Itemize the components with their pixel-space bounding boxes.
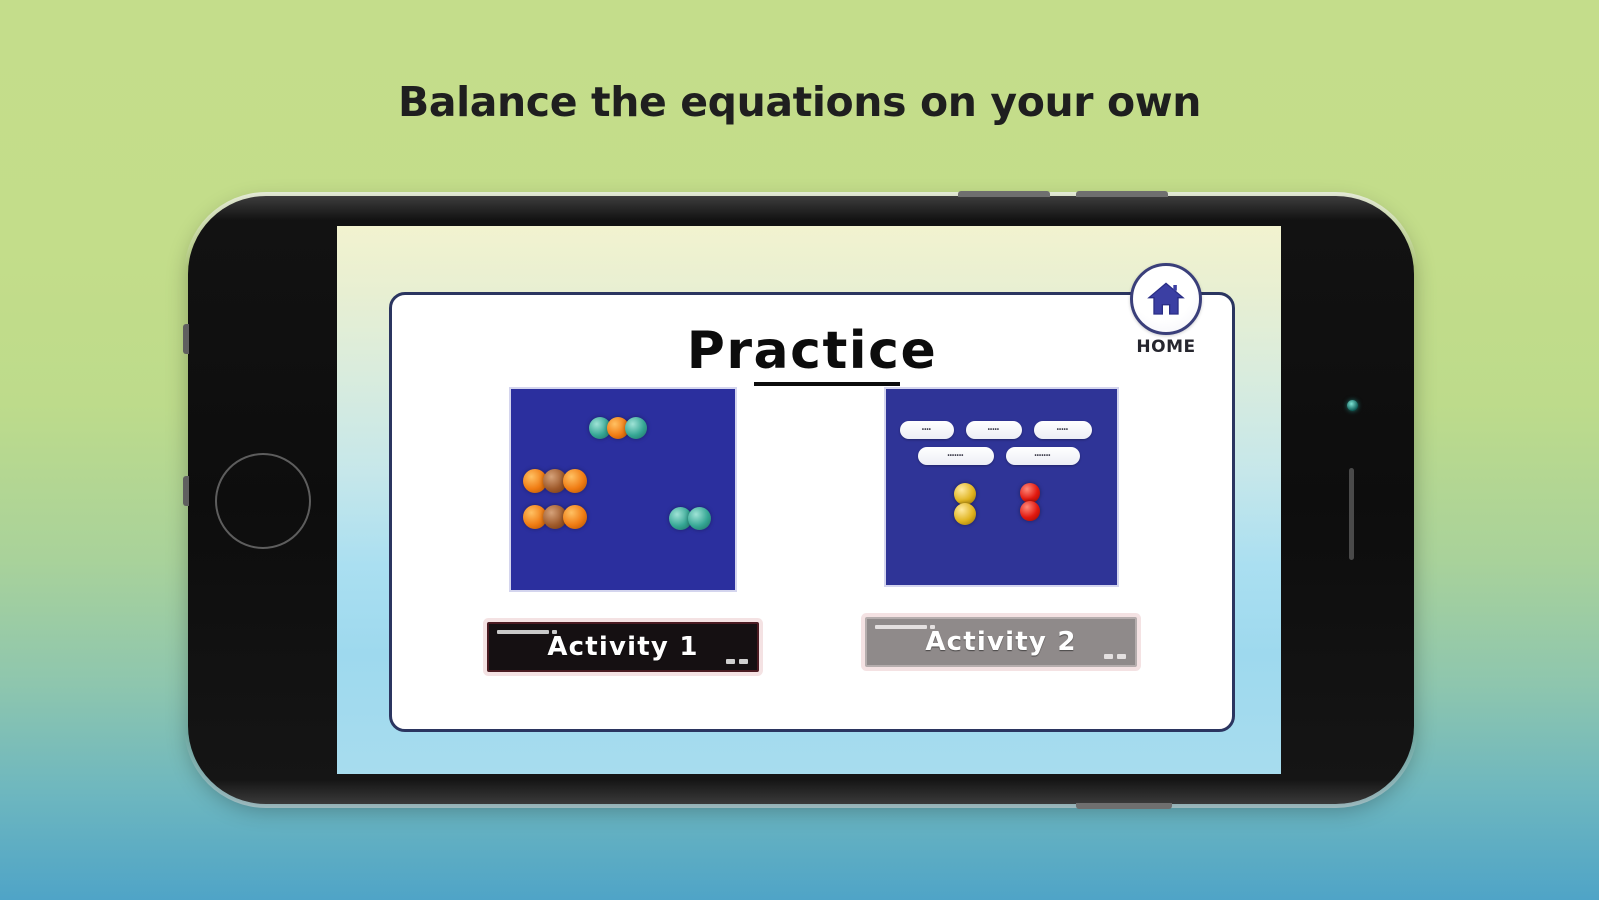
device-screen: HOME Practice [337,226,1281,774]
activity-1-button-label: Activity 1 [547,632,698,662]
home-icon [1146,279,1186,319]
practice-heading-underlined: actic [754,321,901,386]
activity-1-column: Activity 1 [487,387,759,672]
activity-1-button[interactable]: Activity 1 [487,622,759,672]
activity-2-button[interactable]: Activity 2 [865,617,1137,667]
front-camera-icon [1347,400,1358,411]
page-title: Balance the equations on your own [0,78,1599,126]
activities-row: Activity 1 •••• ••••• ••••• ••••••• ••••… [392,387,1232,672]
volume-down-button[interactable] [1076,191,1168,197]
equation-chip: ••••••• [918,447,994,465]
atom-teal [625,417,647,439]
equation-chip: ••••• [1034,421,1092,439]
volume-up-button[interactable] [958,191,1050,197]
practice-heading-post: e [900,321,937,381]
button-decoration-top [875,625,935,629]
atom-red [1020,483,1040,503]
phone-frame: HOME Practice [188,196,1414,804]
activity-2-column: •••• ••••• ••••• ••••••• ••••••• Activit… [865,387,1137,672]
atom-gold [954,483,976,505]
side-button-bottom[interactable] [183,476,189,506]
atom-red [1020,501,1040,521]
home-button-circle[interactable] [1130,263,1202,335]
equation-chip: ••••••• [1006,447,1080,465]
power-button[interactable] [1076,803,1172,809]
earpiece-speaker [1349,468,1354,560]
side-button-top[interactable] [183,324,189,354]
button-decoration-bottom [1104,654,1126,659]
home-button[interactable]: HOME [1124,263,1208,357]
practice-heading-pre: Pr [687,321,754,381]
button-decoration-bottom [726,659,748,664]
activity-2-thumbnail[interactable]: •••• ••••• ••••• ••••••• ••••••• [884,387,1119,587]
equation-chip: ••••• [966,421,1022,439]
activity-1-thumbnail[interactable] [509,387,737,592]
activity-2-button-label: Activity 2 [925,627,1076,657]
practice-card: HOME Practice [389,292,1235,732]
button-decoration-top [497,630,557,634]
atom-gold [954,503,976,525]
equation-chip: •••• [900,421,954,439]
atom-orange [563,505,587,529]
atom-orange [563,469,587,493]
practice-heading: Practice [392,321,1232,381]
device-home-button[interactable] [215,453,311,549]
atom-teal [688,507,711,530]
home-button-label: HOME [1124,337,1208,357]
